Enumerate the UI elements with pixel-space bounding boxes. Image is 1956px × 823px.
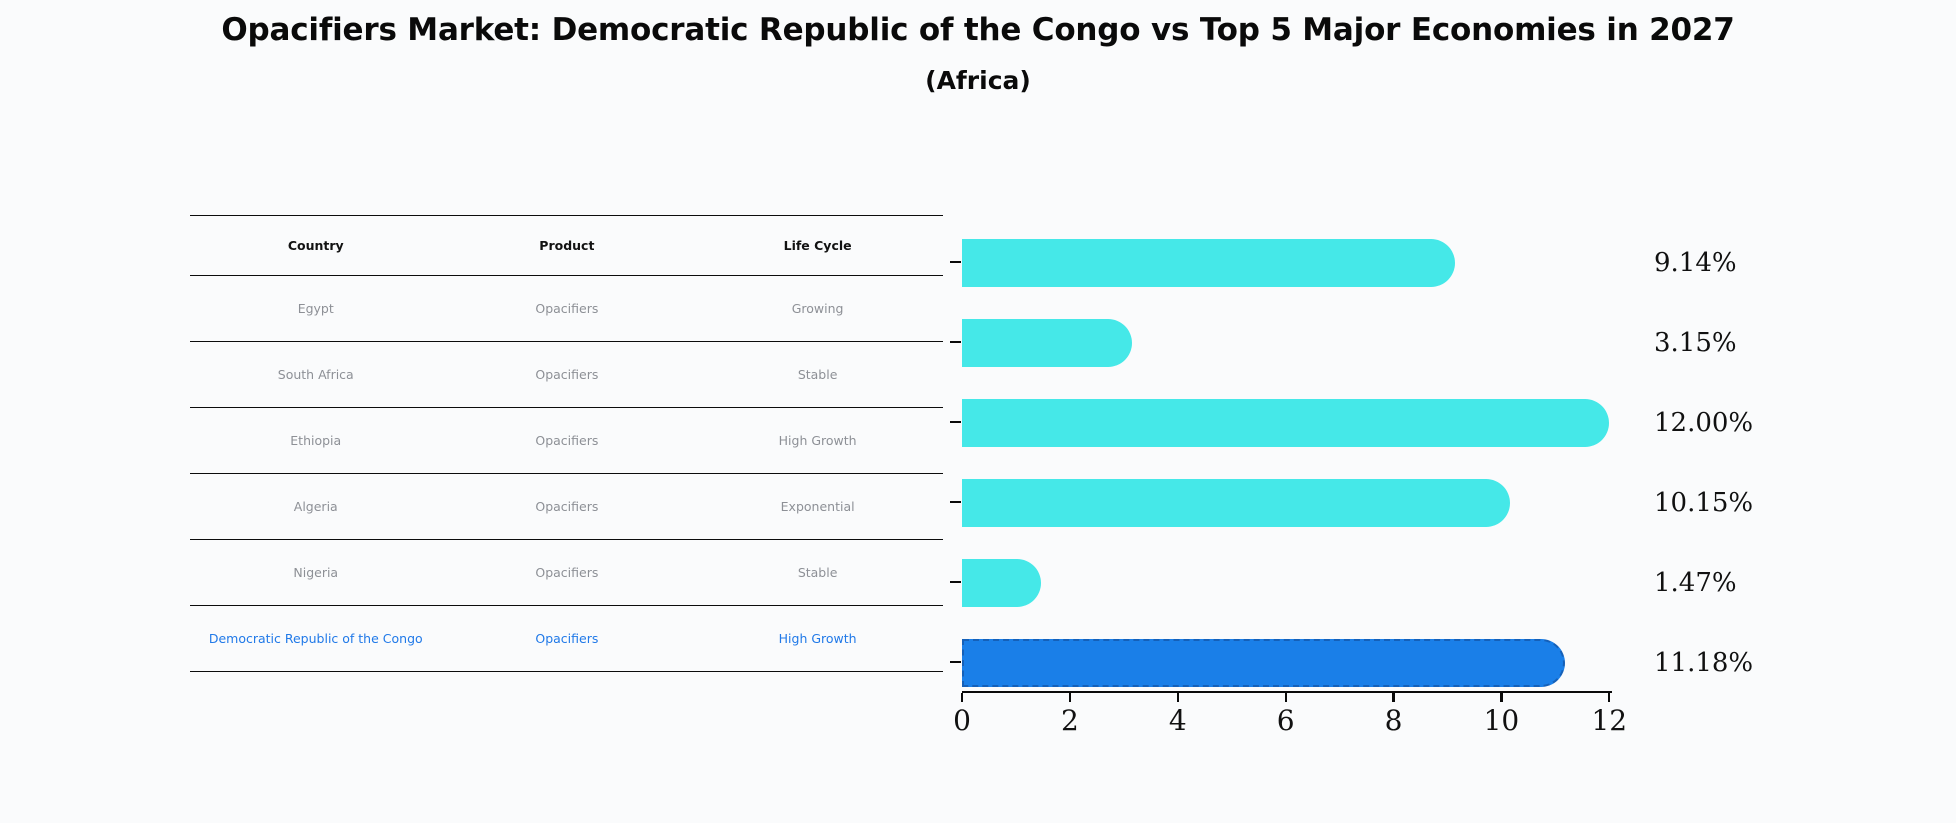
table-row[interactable]: NigeriaOpacifiersStable bbox=[190, 540, 943, 606]
x-axis-tick-label: 8 bbox=[1385, 704, 1403, 737]
cell-life-cycle: Stable bbox=[692, 540, 943, 606]
cell-life-cycle: Stable bbox=[692, 342, 943, 408]
x-axis-tick-label: 2 bbox=[1061, 704, 1079, 737]
page-title: Opacifiers Market: Democratic Republic o… bbox=[0, 8, 1956, 99]
cell-country: Egypt bbox=[190, 276, 442, 342]
cell-country: Democratic Republic of the Congo bbox=[190, 606, 442, 672]
bar-row: 1.47% bbox=[962, 559, 1612, 607]
table-body: EgyptOpacifiersGrowingSouth AfricaOpacif… bbox=[190, 276, 943, 672]
bar-row: 3.15% bbox=[962, 319, 1612, 367]
country-table: Country Product Life Cycle EgyptOpacifie… bbox=[190, 215, 943, 672]
bar-value-label: 10.15% bbox=[1654, 488, 1753, 518]
table-row[interactable]: Democratic Republic of the CongoOpacifie… bbox=[190, 606, 943, 672]
x-axis-tick bbox=[961, 693, 963, 702]
country-table-panel: Country Product Life Cycle EgyptOpacifie… bbox=[190, 215, 943, 672]
cell-product: Opacifiers bbox=[442, 342, 693, 408]
y-axis-tick bbox=[950, 661, 961, 663]
bar-row: 10.15% bbox=[962, 479, 1612, 527]
cell-country: South Africa bbox=[190, 342, 442, 408]
x-axis-tick-label: 12 bbox=[1591, 704, 1627, 737]
x-axis-tick bbox=[1285, 693, 1287, 702]
table-header-row: Country Product Life Cycle bbox=[190, 216, 943, 276]
bar[interactable] bbox=[962, 479, 1510, 527]
table-row[interactable]: EthiopiaOpacifiersHigh Growth bbox=[190, 408, 943, 474]
x-axis-tick-label: 6 bbox=[1277, 704, 1295, 737]
x-axis-tick bbox=[1177, 693, 1179, 702]
cell-life-cycle: High Growth bbox=[692, 408, 943, 474]
bar[interactable] bbox=[962, 319, 1132, 367]
x-axis-line bbox=[962, 691, 1612, 693]
cell-life-cycle: Exponential bbox=[692, 474, 943, 540]
table-header: Country Product Life Cycle bbox=[190, 216, 943, 276]
cell-product: Opacifiers bbox=[442, 606, 693, 672]
y-axis-tick bbox=[950, 341, 961, 343]
bar-row: 12.00% bbox=[962, 399, 1612, 447]
column-header-life-cycle: Life Cycle bbox=[692, 216, 943, 276]
cell-country: Algeria bbox=[190, 474, 442, 540]
bar-highlighted[interactable] bbox=[962, 639, 1565, 687]
column-header-country: Country bbox=[190, 216, 442, 276]
cell-product: Opacifiers bbox=[442, 474, 693, 540]
x-axis-tick bbox=[1069, 693, 1071, 702]
cell-product: Opacifiers bbox=[442, 540, 693, 606]
bar-chart: 9.14%3.15%12.00%10.15%1.47%11.18% bbox=[962, 215, 1662, 715]
y-axis-tick bbox=[950, 421, 961, 423]
table-row[interactable]: EgyptOpacifiersGrowing bbox=[190, 276, 943, 342]
cell-life-cycle: Growing bbox=[692, 276, 943, 342]
y-axis-tick bbox=[950, 581, 961, 583]
x-axis: 024681012 bbox=[962, 691, 1612, 692]
cell-country: Nigeria bbox=[190, 540, 442, 606]
cell-product: Opacifiers bbox=[442, 408, 693, 474]
x-axis-tick bbox=[1608, 693, 1610, 702]
cell-country: Ethiopia bbox=[190, 408, 442, 474]
bar-value-label: 1.47% bbox=[1654, 568, 1737, 598]
bar-row: 11.18% bbox=[962, 639, 1612, 687]
bar[interactable] bbox=[962, 239, 1455, 287]
cell-life-cycle: High Growth bbox=[692, 606, 943, 672]
cell-product: Opacifiers bbox=[442, 276, 693, 342]
bar-value-label: 11.18% bbox=[1654, 648, 1753, 678]
bar[interactable] bbox=[962, 559, 1041, 607]
bar-value-label: 3.15% bbox=[1654, 328, 1737, 358]
title-main-line: Opacifiers Market: Democratic Republic o… bbox=[0, 8, 1956, 53]
title-subtitle-line: (Africa) bbox=[0, 63, 1956, 99]
column-header-product: Product bbox=[442, 216, 693, 276]
x-axis-tick bbox=[1500, 693, 1502, 702]
x-axis-tick-label: 0 bbox=[953, 704, 971, 737]
x-axis-tick-label: 4 bbox=[1169, 704, 1187, 737]
x-axis-tick bbox=[1392, 693, 1394, 702]
bar-row: 9.14% bbox=[962, 239, 1612, 287]
bar[interactable] bbox=[962, 399, 1609, 447]
bar-value-label: 9.14% bbox=[1654, 248, 1737, 278]
table-row[interactable]: South AfricaOpacifiersStable bbox=[190, 342, 943, 408]
y-axis-tick bbox=[950, 501, 961, 503]
table-row[interactable]: AlgeriaOpacifiersExponential bbox=[190, 474, 943, 540]
y-axis-tick bbox=[950, 261, 961, 263]
x-axis-tick-label: 10 bbox=[1484, 704, 1520, 737]
bar-value-label: 12.00% bbox=[1654, 408, 1753, 438]
